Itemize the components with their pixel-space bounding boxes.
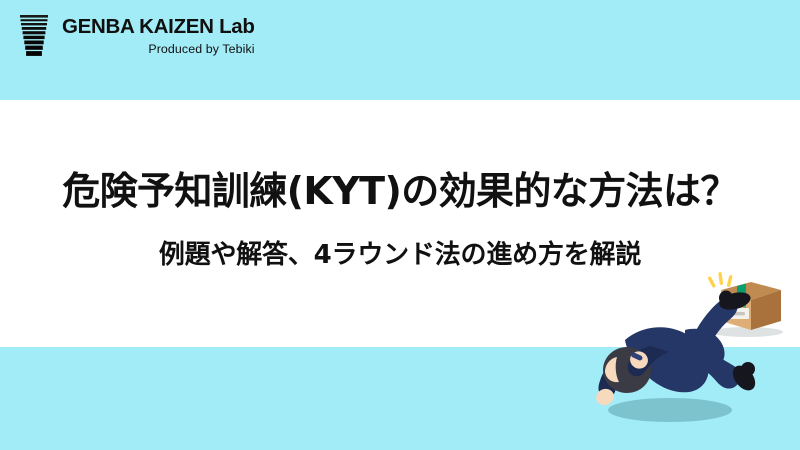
falling-worker-figure: [594, 289, 760, 407]
headline-container: 危険予知訓練(KYT)の効果的な方法は？: [0, 170, 800, 213]
stacked-pyramid-logo-icon: [14, 14, 54, 58]
brand-subtitle: Produced by Tebiki: [148, 43, 254, 55]
motion-lines: [707, 272, 732, 288]
headline-text: 危険予知訓練(KYT)の効果的な方法は？: [0, 170, 800, 213]
brand-logo-text: GENBA KAIZEN Lab Produced by Tebiki: [62, 14, 255, 55]
brand-title: GENBA KAIZEN Lab: [62, 14, 255, 38]
subheadline-text: 例題や解答、4ラウンド法の進め方を解説: [0, 241, 800, 271]
article-thumbnail: GENBA KAIZEN Lab Produced by Tebiki 危険予知…: [0, 0, 800, 450]
ground-shadow: [608, 398, 732, 422]
subheadline-container: 例題や解答、4ラウンド法の進め方を解説: [0, 241, 800, 271]
brand-logo: GENBA KAIZEN Lab Produced by Tebiki: [14, 14, 255, 58]
